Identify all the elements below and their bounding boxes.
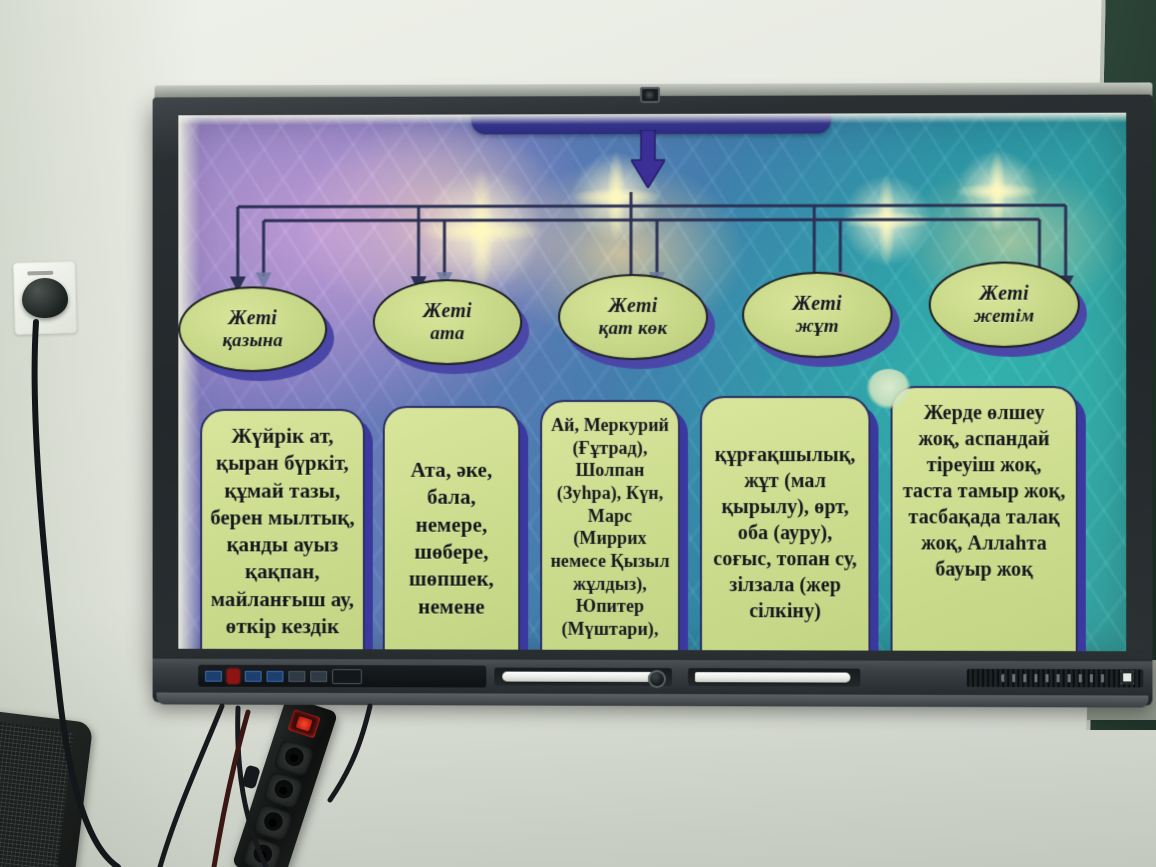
usb-port-icon[interactable] xyxy=(205,670,222,681)
power-plug xyxy=(21,277,68,318)
usb-port-icon[interactable] xyxy=(267,670,284,681)
card-face[interactable]: Ата, әке, бала, немере, шөбере, шөпшек, … xyxy=(383,406,520,651)
card-face[interactable]: Жерде өлшеу жоқ, аспандай тіреуіш жоқ, т… xyxy=(891,386,1078,651)
card-text: Ай, Меркурий (Ғұтрад), Шолпан (Зуһра), К… xyxy=(550,414,670,641)
display-screen[interactable]: Жеті қазына Жеті ата Жеті қат көк xyxy=(178,113,1126,652)
corner-sensor-icon xyxy=(1120,670,1134,684)
card-zheti-qat-kok[interactable]: Ай, Меркурий (Ғұтрад), Шолпан (Зуһра), К… xyxy=(540,400,680,651)
power-strip-switch[interactable] xyxy=(287,709,320,739)
card-face[interactable]: Ай, Меркурий (Ғұтрад), Шолпан (Зуһра), К… xyxy=(540,400,680,651)
power-strip-socket xyxy=(242,836,284,867)
node-label-line1: Жеті xyxy=(793,293,842,315)
card-text: Ата, әке, бала, немере, шөбере, шөпшек, … xyxy=(393,457,511,621)
node-label-line2: ата xyxy=(430,323,464,344)
outlet-screw-line xyxy=(27,271,53,276)
hdmi-port-icon[interactable] xyxy=(288,670,305,681)
connected-black-plug-icon xyxy=(332,669,362,684)
node-zheti-zhetim[interactable]: Жеті жетім xyxy=(929,261,1080,347)
connected-red-plug-icon xyxy=(227,668,240,683)
stylus-pen-right[interactable] xyxy=(695,672,850,682)
power-strip-socket xyxy=(263,771,305,810)
port-panel[interactable] xyxy=(198,665,486,688)
node-zheti-qat-kok[interactable]: Жеті қат көк xyxy=(558,274,708,360)
panel-bottom-bezel xyxy=(153,659,1153,706)
node-face[interactable]: Жеті жетім xyxy=(929,261,1080,347)
card-zheti-zhut[interactable]: құрғақшылық, жұт (мал қырылу), өрт, оба … xyxy=(700,396,870,651)
card-text: Жүйрік ат, қыран бүркіт, құмай тазы, бер… xyxy=(210,423,355,641)
main-down-arrow-icon xyxy=(631,130,665,188)
slide-diagram: Жеті қазына Жеті ата Жеті қат көк xyxy=(178,113,1126,652)
node-zheti-zhut[interactable]: Жеті жұт xyxy=(742,272,892,358)
node-zheti-ata[interactable]: Жеті ата xyxy=(373,279,522,365)
node-label-line2: жетім xyxy=(974,305,1035,326)
node-label-line1: Жеті xyxy=(609,295,658,317)
node-zheti-qazyna[interactable]: Жеті қазына xyxy=(178,286,327,372)
wall-outlet xyxy=(13,261,77,335)
node-label-line1: Жеті xyxy=(423,300,472,322)
card-text: құрғақшылық, жұт (мал қырылу), өрт, оба … xyxy=(710,442,860,624)
card-face[interactable]: Жүйрік ат, қыран бүркіт, құмай тазы, бер… xyxy=(200,409,365,651)
chair-mesh-back xyxy=(0,720,74,867)
node-face[interactable]: Жеті қат көк xyxy=(558,274,708,360)
node-label-line2: жұт xyxy=(796,315,839,336)
stylus-pen-left[interactable] xyxy=(502,672,662,682)
camera-icon xyxy=(640,87,660,103)
node-face[interactable]: Жеті жұт xyxy=(742,272,892,358)
power-strip-socket xyxy=(252,803,294,842)
node-face[interactable]: Жеті қазына xyxy=(178,286,327,372)
card-face[interactable]: құрғақшылық, жұт (мал қырылу), өрт, оба … xyxy=(700,396,870,651)
power-strip-socket xyxy=(273,739,315,778)
card-text: Жерде өлшеу жоқ, аспандай тіреуіш жоқ, т… xyxy=(901,400,1068,583)
hdmi-port-icon[interactable] xyxy=(310,671,327,682)
node-label-line2: қат көк xyxy=(599,318,668,339)
usb-port-icon[interactable] xyxy=(245,670,262,681)
node-label-line1: Жеті xyxy=(980,283,1029,306)
card-zheti-ata[interactable]: Ата, әке, бала, немере, шөбере, шөпшек, … xyxy=(383,406,520,651)
interactive-flat-panel[interactable]: Жеті қазына Жеті ата Жеті қат көк xyxy=(153,82,1153,695)
node-label-line1: Жеті xyxy=(228,307,276,329)
ir-sensor-icon xyxy=(648,670,666,688)
control-button-row[interactable] xyxy=(1001,674,1112,682)
node-face[interactable]: Жеті ата xyxy=(373,279,522,365)
card-zheti-qazyna[interactable]: Жүйрік ат, қыран бүркіт, құмай тазы, бер… xyxy=(200,409,365,651)
node-label-line2: қазына xyxy=(222,330,282,351)
card-zheti-zhetim[interactable]: Жерде өлшеу жоқ, аспандай тіреуіш жоқ, т… xyxy=(891,386,1078,651)
